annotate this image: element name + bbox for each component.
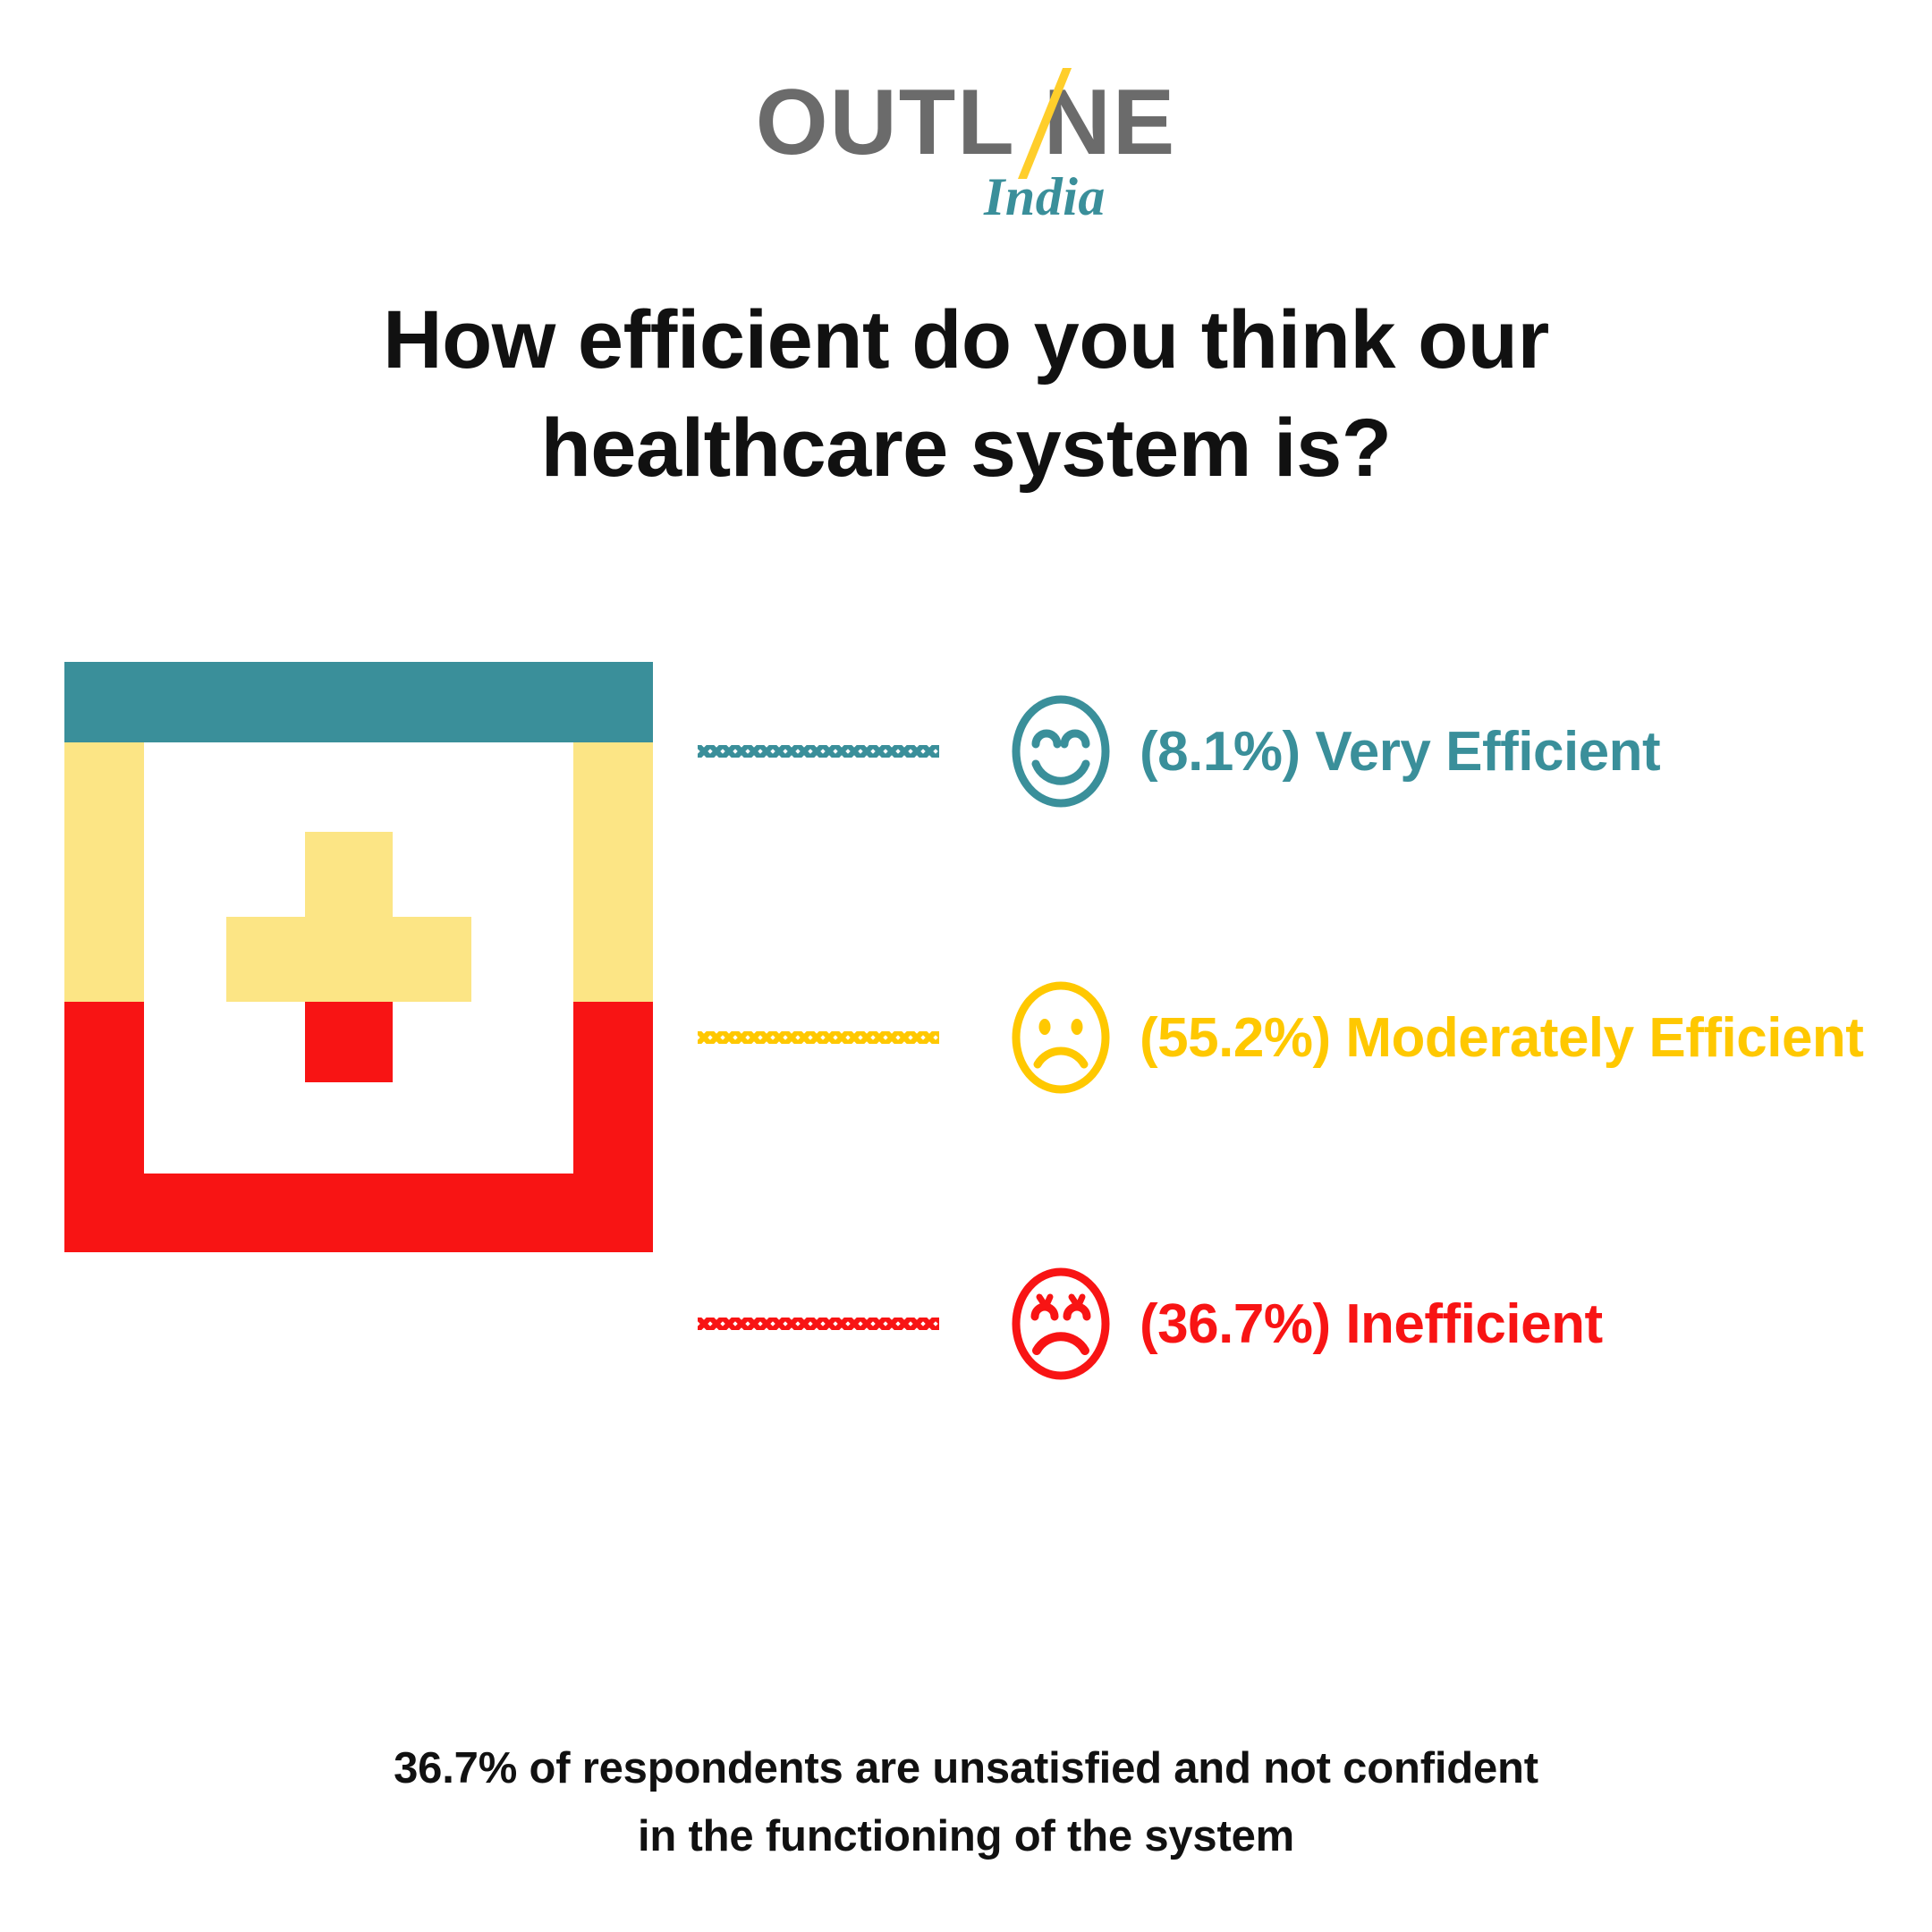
page-title-line1: How efficient do you think our: [161, 286, 1771, 394]
logo-word-part1: OUTL: [756, 71, 1016, 174]
legend-label-very-efficient: (8.1%) Very Efficient: [1140, 720, 1660, 784]
legend-item-moderately-efficient[interactable]: Created by Gan Khoon Lay (55.2%) Moderat…: [698, 957, 1887, 1118]
footer-summary: 36.7% of respondents are unsatisfied and…: [161, 1735, 1771, 1871]
footer-line2: in the functioning of the system: [161, 1803, 1771, 1871]
connector-line-yellow: Created by Gan Khoon Lay: [698, 1026, 939, 1049]
legend-label-moderately-efficient: (55.2%) Moderately Efficient: [1140, 1006, 1863, 1070]
legend-item-very-efficient[interactable]: (8.1%) Very Efficient: [698, 671, 1887, 832]
distressed-face-icon: [1007, 1265, 1114, 1383]
logo-wordmark: OUTL/NE: [756, 73, 1176, 172]
brand-logo: OUTL/NE India: [0, 73, 1932, 228]
legend: (8.1%) Very Efficient Created by Gan Kho…: [698, 626, 1887, 1404]
sad-face-icon: [1007, 979, 1114, 1097]
legend-item-inefficient[interactable]: (36.7%) Inefficient: [698, 1243, 1887, 1404]
cross-horizontal: [226, 917, 471, 1002]
connector-line-teal: [698, 740, 939, 763]
connector-line-red: [698, 1312, 939, 1335]
kit-bottom-bar: [64, 1174, 653, 1252]
kit-right-upper-bar: [573, 742, 653, 1002]
legend-label-inefficient: (36.7%) Inefficient: [1140, 1292, 1603, 1356]
page-title: How efficient do you think our healthcar…: [161, 286, 1771, 504]
page-title-line2: healthcare system is?: [161, 394, 1771, 503]
happy-face-icon: [1007, 692, 1114, 810]
logo-subtitle-wrap: India: [0, 166, 1932, 228]
footer-line1: 36.7% of respondents are unsatisfied and…: [161, 1735, 1771, 1803]
kit-left-upper-bar: [64, 742, 144, 1002]
cross-vertical-lower: [305, 1002, 393, 1082]
kit-top-bar: [64, 662, 653, 742]
medical-kit-icon: [64, 662, 653, 1252]
logo-subtitle: India: [984, 167, 1106, 226]
